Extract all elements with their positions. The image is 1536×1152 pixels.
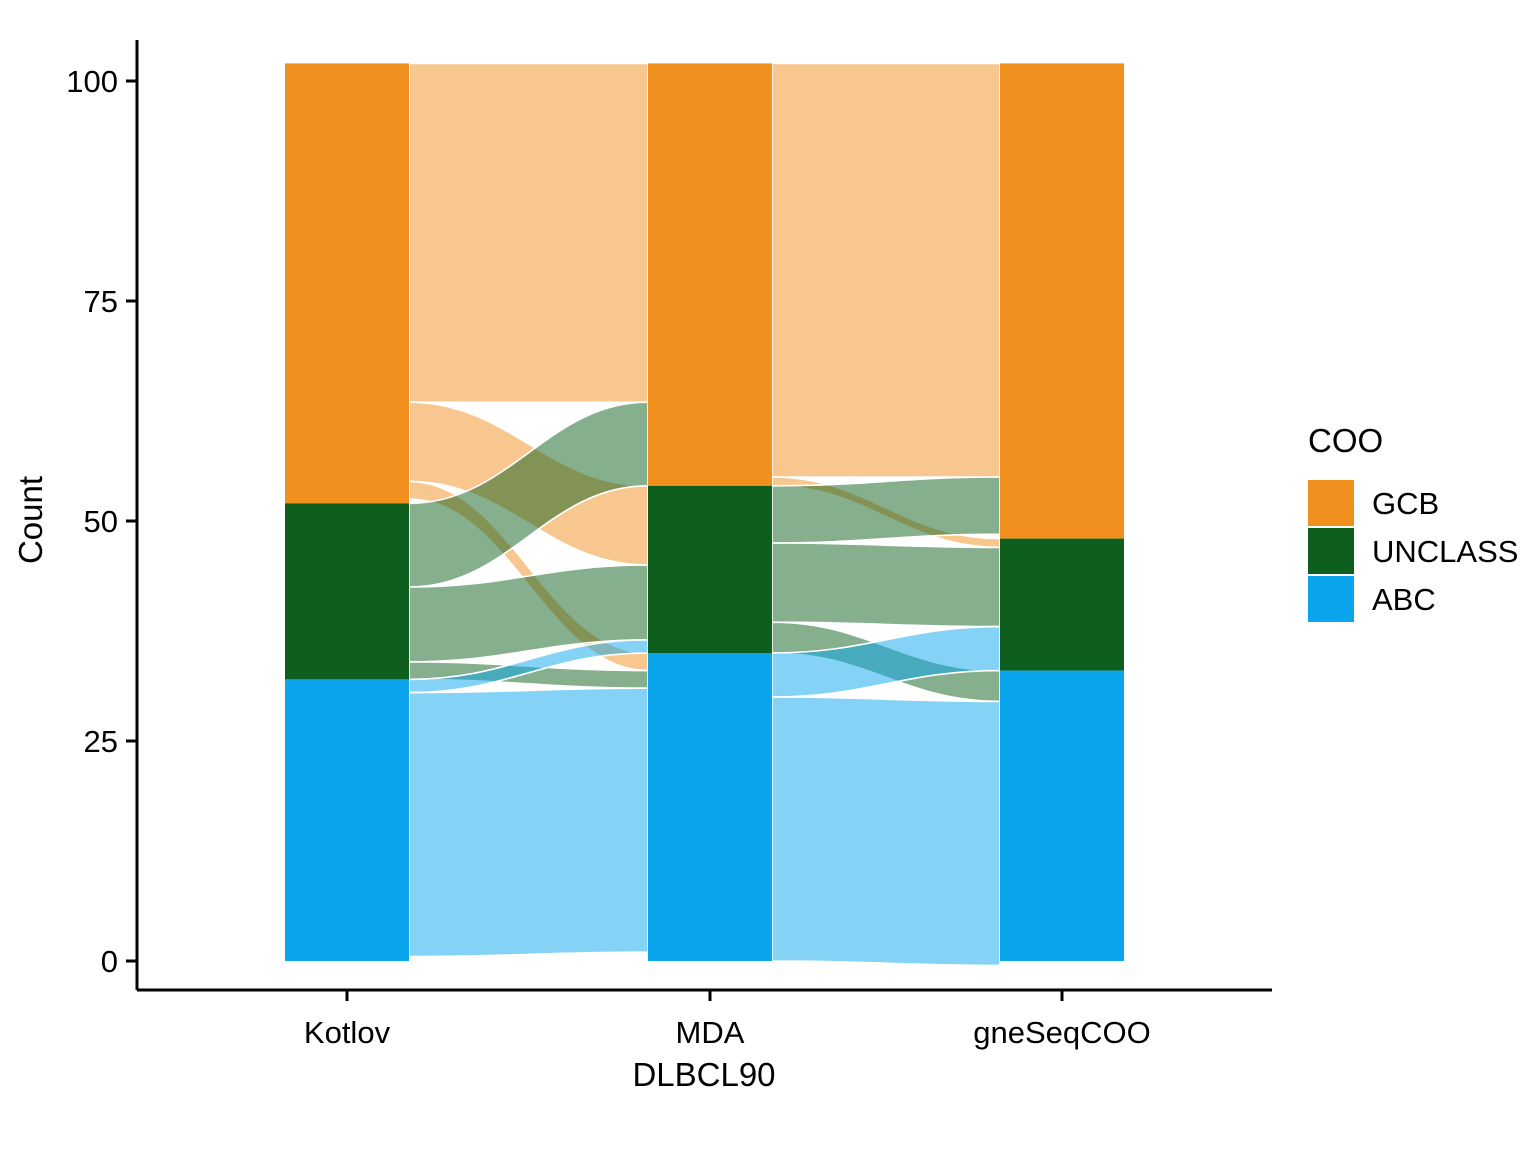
alluvial-chart-root: 0255075100 KotlovMDAgneSeqCOO Count DLBC… xyxy=(0,0,1536,1152)
y-axis-ticks: 0255075100 xyxy=(66,64,137,979)
x-axis-ticks: KotlovMDAgneSeqCOO xyxy=(304,990,1151,1050)
y-tick-label: 25 xyxy=(84,724,118,759)
stratum-block xyxy=(648,486,772,653)
flow-ribbon xyxy=(772,697,1000,965)
flow-ribbon xyxy=(772,63,1000,477)
stratum-block xyxy=(285,63,409,503)
flow-ribbon xyxy=(409,688,648,956)
legend-label: ABC xyxy=(1372,582,1436,617)
legend-swatch xyxy=(1308,576,1354,622)
stratum-block xyxy=(1000,63,1124,538)
stratum-block xyxy=(1000,539,1124,671)
stratum-block xyxy=(648,653,772,961)
x-tick-label: gneSeqCOO xyxy=(973,1015,1151,1050)
stratum-block xyxy=(285,503,409,679)
legend-swatch xyxy=(1308,480,1354,526)
x-axis-title: DLBCL90 xyxy=(632,1056,775,1093)
stratum-block xyxy=(285,679,409,961)
legend: COO GCBUNCLASSABC xyxy=(1308,422,1518,622)
x-tick-label: Kotlov xyxy=(304,1015,391,1050)
legend-label: UNCLASS xyxy=(1372,534,1518,569)
flow-ribbon xyxy=(409,63,648,402)
flow-ribbon xyxy=(772,477,1000,543)
flow-ribbon xyxy=(772,543,1000,627)
legend-swatch xyxy=(1308,528,1354,574)
y-axis-title: Count xyxy=(12,476,49,564)
y-tick-label: 75 xyxy=(84,284,118,319)
legend-items: GCBUNCLASSABC xyxy=(1308,480,1518,622)
legend-title: COO xyxy=(1308,422,1383,459)
y-tick-label: 50 xyxy=(84,504,118,539)
stratum-block xyxy=(1000,671,1124,961)
stratum-block xyxy=(648,63,772,485)
chart-canvas: 0255075100 KotlovMDAgneSeqCOO Count DLBC… xyxy=(0,0,1536,1152)
y-tick-label: 0 xyxy=(101,944,118,979)
legend-label: GCB xyxy=(1372,486,1439,521)
y-tick-label: 100 xyxy=(66,64,118,99)
x-tick-label: MDA xyxy=(676,1015,745,1050)
